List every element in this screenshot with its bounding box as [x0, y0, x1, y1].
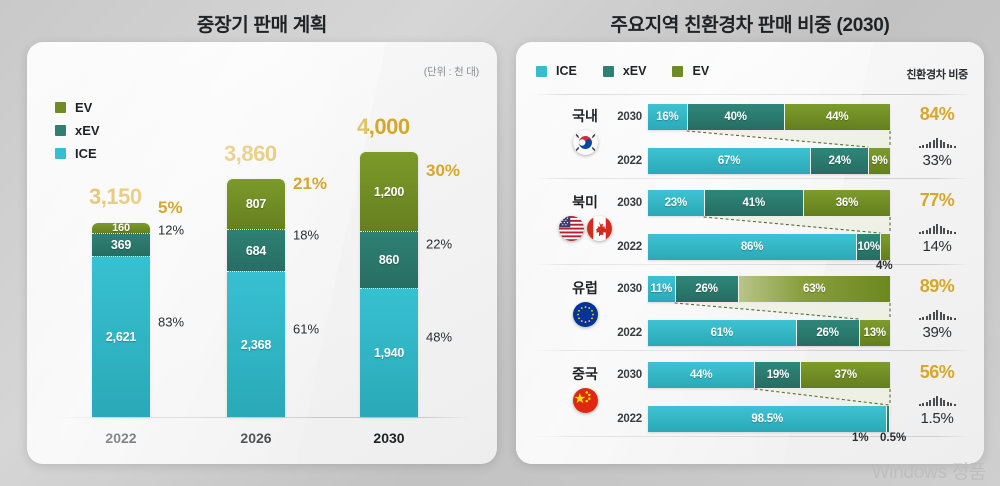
right-chart-card: ICE xEV EV 친환경차 비중 국내203016%40%44%202267…: [516, 42, 984, 464]
year-label: 2022: [608, 413, 642, 425]
bar-pct-ev-2026: 21%: [293, 174, 327, 194]
eco-share-2030: 89%: [906, 276, 968, 297]
growth-sparkline-icon: [906, 220, 968, 234]
region-flags: [554, 130, 616, 155]
bar-segment-xev[interactable]: 40%: [687, 104, 784, 130]
bar-segment-ice[interactable]: 86%: [648, 234, 856, 260]
legend-item-xev-h[interactable]: xEV: [603, 64, 647, 78]
outside-value-label: 1%: [852, 432, 869, 444]
region-row: 중국203044%19%37%202298.5%1%0.5%56%1.5%: [516, 358, 984, 444]
bar-segment-ice-2022[interactable]: 2,621: [92, 256, 150, 417]
region-row: 북미203023%41%36%202286%10%4%77%14%: [516, 186, 984, 272]
region-name: 유럽: [554, 278, 616, 298]
bar-segment-value: 41%: [743, 197, 765, 209]
region-stacked-bar[interactable]: 11%26%63%: [648, 276, 890, 302]
bar-segment-xev[interactable]: 26%: [675, 276, 738, 302]
bar-segment-ice-2026[interactable]: 2,368: [227, 271, 285, 417]
bar-segment-value: 61%: [711, 327, 733, 339]
bar-segment-ice[interactable]: 61%: [648, 320, 796, 346]
bar-value-ice-2030: 1,940: [374, 346, 404, 360]
outside-value-label: 4%: [876, 260, 893, 272]
growth-sparkline-icon: [906, 306, 968, 320]
x-label-2026: 2026: [227, 430, 285, 446]
bar-segment-value: 23%: [665, 197, 687, 209]
bar-segment-value: 37%: [834, 369, 856, 381]
bar-segment-xev-2026[interactable]: 684: [227, 229, 285, 271]
region-flags: [554, 216, 616, 241]
bar-segment-value: 16%: [656, 111, 678, 123]
windows-activation-watermark: Windows 정품: [872, 457, 986, 484]
bar-segment-value: 44%: [690, 369, 712, 381]
bar-segment-xev-2022[interactable]: 369: [92, 233, 150, 256]
region-flags: [554, 388, 616, 413]
region-stacked-bar[interactable]: 16%40%44%: [648, 104, 890, 130]
eco-share-2022: 1.5%: [906, 410, 968, 427]
bar-segment-value: 36%: [836, 197, 858, 209]
region-name: 중국: [554, 364, 616, 384]
bar-segment-value: 63%: [803, 283, 825, 295]
left-chart-card: (단위 : 천 대) EV xEV ICE 3,150 16: [27, 42, 497, 464]
stacked-bar-2026[interactable]: 807 684 2,368: [227, 179, 285, 417]
bar-segment-ev-2026[interactable]: 807: [227, 179, 285, 229]
bar-segment-value: 40%: [724, 111, 746, 123]
region-stacked-bar[interactable]: 98.5%: [648, 406, 890, 432]
bar-value-xev-2022: 369: [111, 238, 131, 252]
region-flags: [554, 302, 616, 327]
x-label-2022: 2022: [92, 430, 150, 446]
bar-segment-xev[interactable]: 41%: [704, 190, 803, 216]
bar-pct-xev-2026: 18%: [293, 228, 319, 243]
bar-segment-value: 67%: [718, 155, 740, 167]
eco-share-column-header: 친환경차 비중: [906, 66, 968, 82]
bar-segment-ice[interactable]: 98.5%: [648, 406, 886, 432]
bar-segment-ev[interactable]: 9%: [868, 148, 890, 174]
eco-share-2030: 77%: [906, 190, 968, 211]
legend-swatch-ice-h: [536, 66, 547, 77]
right-chart-title: 주요지역 친환경차 판매 비중 (2030): [516, 10, 984, 37]
bar-segment-value: 10%: [857, 241, 879, 253]
bar-value-xev-2026: 684: [246, 244, 266, 258]
bar-value-ev-2030: 1,200: [374, 185, 404, 199]
legend-swatch-ev-h: [672, 66, 683, 77]
infographic-root: 중장기 판매 계획 (단위 : 천 대) EV xEV ICE 3,150: [0, 0, 1000, 486]
bar-segment-xev[interactable]: 10%: [856, 234, 880, 260]
year-label: 2030: [608, 197, 642, 209]
growth-sparkline-icon: [906, 392, 968, 406]
bar-pct-xev-2030: 22%: [426, 237, 452, 252]
region-stacked-bar[interactable]: 23%41%36%: [648, 190, 890, 216]
bar-pct-ev-2022: 5%: [158, 198, 183, 218]
year-label: 2030: [608, 283, 642, 295]
total-2022: 3,150: [89, 184, 142, 210]
bar-segment-value: 11%: [650, 283, 672, 295]
bar-segment-value: 13%: [864, 327, 886, 339]
bar-pct-ice-2026: 61%: [293, 322, 319, 337]
bar-segment-xev[interactable]: 26%: [796, 320, 859, 346]
bar-value-ev-2026: 807: [246, 197, 266, 211]
bar-segment-ice[interactable]: 16%: [648, 104, 687, 130]
region-name: 북미: [554, 192, 616, 212]
eco-share-2022: 39%: [906, 324, 968, 341]
bar-segment-ice[interactable]: 44%: [648, 362, 754, 388]
bar-value-ice-2026: 2,368: [241, 338, 271, 352]
growth-sparkline-icon: [906, 134, 968, 148]
region-stacked-bar[interactable]: 44%19%37%: [648, 362, 890, 388]
legend-swatch-xev: [55, 125, 66, 136]
region-stacked-bar[interactable]: 67%24%9%: [648, 148, 890, 174]
region-stacked-bar[interactable]: 61%26%13%: [648, 320, 890, 346]
outside-value-label: 0.5%: [880, 432, 906, 444]
bar-segment-ice[interactable]: 23%: [648, 190, 704, 216]
bar-segment-xev[interactable]: 19%: [754, 362, 800, 388]
legend-swatch-ice: [55, 148, 66, 159]
left-chart-title: 중장기 판매 계획: [27, 10, 497, 37]
bar-segment-ev[interactable]: [880, 234, 890, 260]
legend-label-xev-h: xEV: [623, 64, 647, 78]
eco-share-2022: 14%: [906, 238, 968, 255]
bar-segment-ev[interactable]: 63%: [738, 276, 890, 302]
bar-segment-ev[interactable]: 36%: [803, 190, 890, 216]
flag-icon-kr: [573, 130, 598, 155]
bar-segment-ev[interactable]: 44%: [784, 104, 890, 130]
bar-segment-value: 98.5%: [751, 413, 783, 425]
bar-segment-ice[interactable]: 11%: [648, 276, 675, 302]
eco-share-2022: 33%: [906, 152, 968, 169]
stacked-bar-2022[interactable]: 160 369 2,621: [92, 223, 150, 417]
legend-swatch-ev: [55, 102, 66, 113]
bar-value-ice-2022: 2,621: [106, 330, 136, 344]
legend-item-ice[interactable]: ICE: [55, 146, 100, 161]
bar-segment-ev[interactable]: 37%: [800, 362, 890, 388]
bar-segment-value: 24%: [828, 155, 850, 167]
bar-segment-ev-2030[interactable]: 1,200: [360, 152, 418, 231]
bar-segment-ev-2022[interactable]: 160: [92, 223, 150, 233]
bar-value-xev-2030: 860: [379, 253, 399, 267]
legend-item-ev[interactable]: EV: [55, 100, 100, 115]
bar-pct-ice-2022: 83%: [158, 315, 184, 330]
legend-label-xev: xEV: [75, 123, 100, 138]
right-legend: ICE xEV EV: [536, 64, 709, 78]
bar-segment-value: 26%: [695, 283, 717, 295]
eco-share-2030: 56%: [906, 362, 968, 383]
region-row: 국내203016%40%44%202267%24%9%84%33%: [516, 100, 984, 186]
bar-pct-ev-2030: 30%: [426, 161, 460, 181]
bar-segment-xev-2030[interactable]: 860: [360, 231, 418, 288]
bar-segment-ev[interactable]: [889, 406, 890, 432]
bar-pct-ice-2030: 48%: [426, 330, 452, 345]
bar-segment-xev[interactable]: 24%: [810, 148, 868, 174]
bar-segment-ev[interactable]: 13%: [859, 320, 890, 346]
bar-segment-ice-2030[interactable]: 1,940: [360, 288, 418, 417]
year-label: 2030: [608, 111, 642, 123]
flag-icon-ca: [587, 216, 612, 241]
legend-label-ev-h: EV: [692, 64, 709, 78]
legend-item-ev-h[interactable]: EV: [672, 64, 709, 78]
flag-icon-us: [559, 216, 584, 241]
flag-icon-eu: [573, 302, 598, 327]
year-label: 2022: [608, 155, 642, 167]
year-label: 2022: [608, 241, 642, 253]
legend-label-ev: EV: [75, 100, 92, 115]
region-name: 국내: [554, 106, 616, 126]
year-label: 2030: [608, 369, 642, 381]
region-row: 유럽203011%26%63%202261%26%13%89%39%: [516, 272, 984, 358]
total-2030: 4,000: [357, 114, 410, 140]
divider-top: [534, 94, 970, 95]
legend-item-xev[interactable]: xEV: [55, 123, 100, 138]
legend-label-ice-h: ICE: [556, 64, 577, 78]
left-legend: EV xEV ICE: [55, 100, 100, 169]
bar-pct-xev-2022: 12%: [158, 223, 184, 238]
year-label: 2022: [608, 327, 642, 339]
bar-segment-ice[interactable]: 67%: [648, 148, 810, 174]
legend-swatch-xev-h: [603, 66, 614, 77]
eco-share-2030: 84%: [906, 104, 968, 125]
total-2026: 3,860: [224, 141, 277, 167]
bar-segment-value: 44%: [826, 111, 848, 123]
legend-item-ice-h[interactable]: ICE: [536, 64, 577, 78]
region-stacked-bar[interactable]: 86%10%: [648, 234, 890, 260]
legend-label-ice: ICE: [75, 146, 97, 161]
flag-icon-cn: [573, 388, 598, 413]
bar-segment-value: 86%: [741, 241, 763, 253]
x-axis-line: [55, 417, 471, 418]
x-label-2030: 2030: [360, 430, 418, 446]
bar-segment-value: 26%: [816, 327, 838, 339]
stacked-bar-2030[interactable]: 1,200 860 1,940: [360, 152, 418, 417]
bar-segment-value: 19%: [767, 369, 789, 381]
bar-segment-value: 9%: [871, 155, 887, 167]
